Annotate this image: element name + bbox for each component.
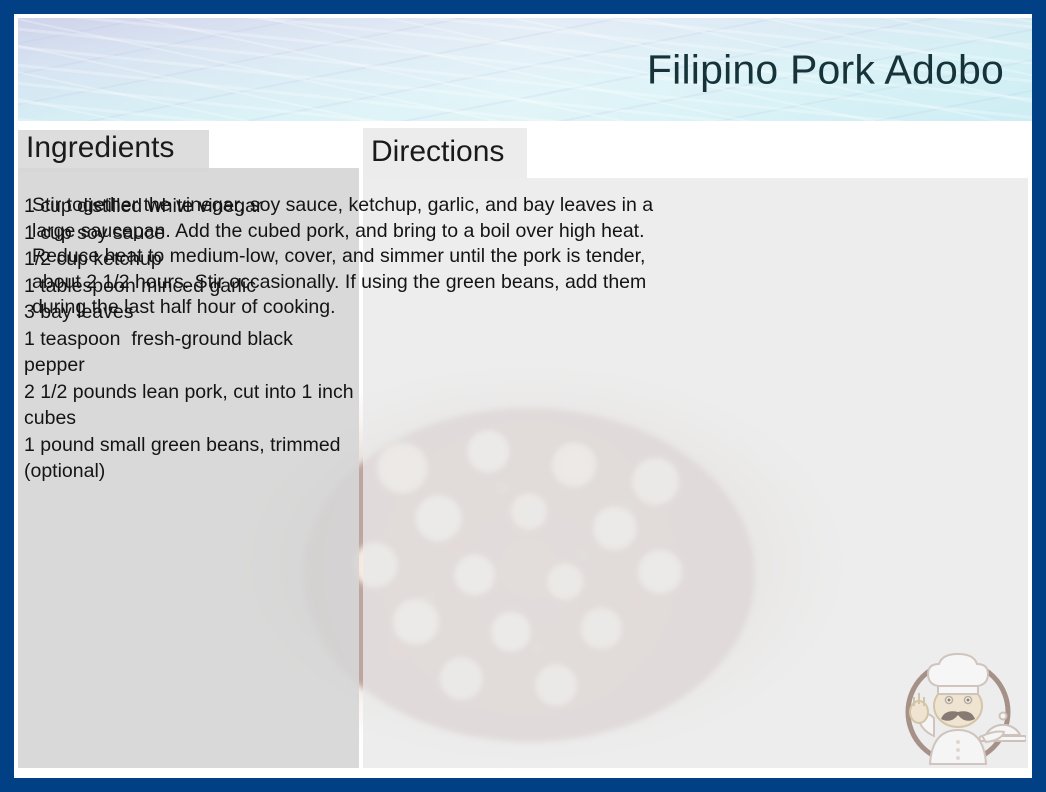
directions-text: Stir together the vinegar, soy sauce, ke… bbox=[32, 193, 682, 321]
ingredients-heading: Ingredients bbox=[26, 131, 174, 165]
recipe-page: Filipino Pork Adobo Ingredients Directio… bbox=[14, 14, 1032, 778]
page-title: Filipino Pork Adobo bbox=[647, 46, 1004, 93]
chef-logo-icon bbox=[890, 644, 1026, 770]
directions-heading: Directions bbox=[371, 135, 504, 169]
recipe-card: Filipino Pork Adobo Ingredients Directio… bbox=[0, 0, 1046, 792]
header-banner: Filipino Pork Adobo bbox=[18, 18, 1032, 121]
